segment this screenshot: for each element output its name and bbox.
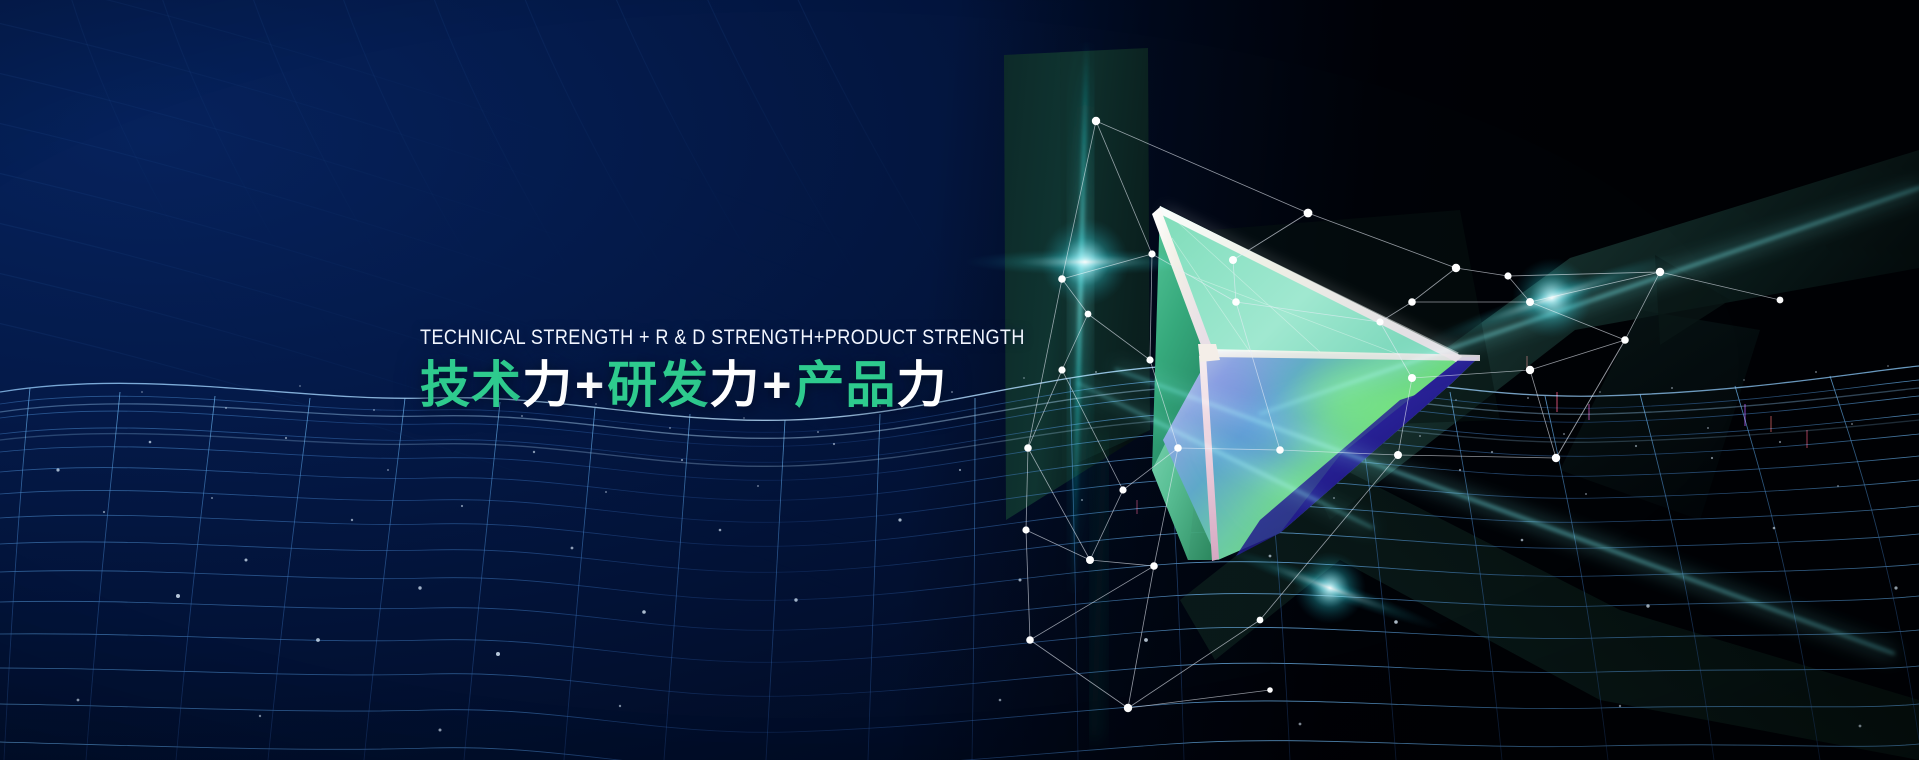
headline-text-block: TECHNICAL STRENGTH + R & D STRENGTH+PROD… (420, 326, 1040, 412)
headline-seg-7: 力 (896, 357, 947, 413)
hero-banner: TECHNICAL STRENGTH + R & D STRENGTH+PROD… (0, 0, 1919, 760)
headline-seg-6: 产品 (794, 357, 896, 413)
headline-seg-4: 力 (709, 357, 760, 413)
headline-seg-2: + (573, 357, 607, 413)
headline-seg-3: 研发 (607, 357, 709, 413)
headline-seg-0: 技术 (420, 357, 522, 413)
headline-seg-1: 力 (522, 357, 573, 413)
headline-seg-5: + (760, 357, 794, 413)
eyebrow-tagline: TECHNICAL STRENGTH + R & D STRENGTH+PROD… (420, 326, 941, 350)
page-title: 技术力+研发力+产品力 (420, 358, 1040, 412)
